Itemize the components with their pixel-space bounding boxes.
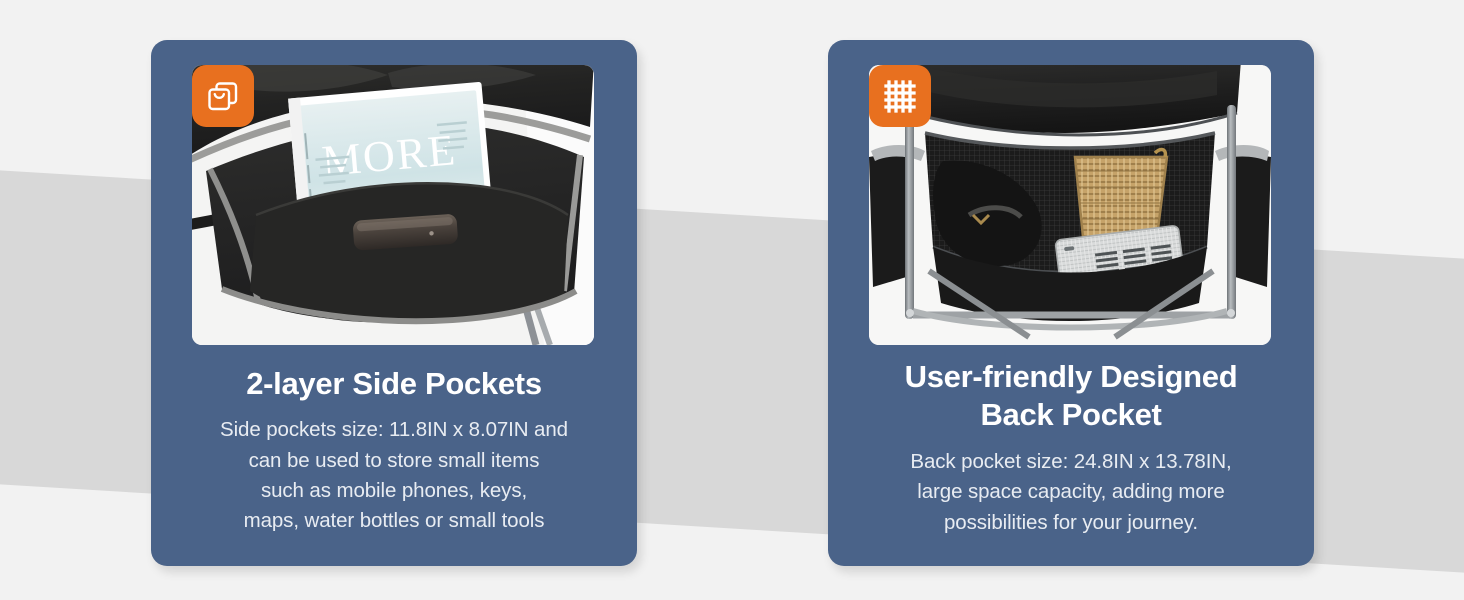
feature-card-side-pockets[interactable]: MORE xyxy=(151,40,637,566)
feature-cards-container: MORE xyxy=(0,0,1464,600)
mesh-grid-icon xyxy=(869,65,931,127)
feature-description: Back pocket size: 24.8IN x 13.78IN, larg… xyxy=(846,447,1296,538)
feature-text-block: 2-layer Side Pockets Side pockets size: … xyxy=(169,365,619,537)
feature-card-back-pocket[interactable]: User-friendly Designed Back Pocket Back … xyxy=(828,40,1314,566)
shopping-bag-stack-icon xyxy=(192,65,254,127)
feature-text-block: User-friendly Designed Back Pocket Back … xyxy=(846,358,1296,538)
feature-description: Side pockets size: 11.8IN x 8.07IN and c… xyxy=(169,415,619,536)
feature-title: 2-layer Side Pockets xyxy=(169,365,619,403)
feature-title: User-friendly Designed Back Pocket xyxy=(846,358,1296,435)
